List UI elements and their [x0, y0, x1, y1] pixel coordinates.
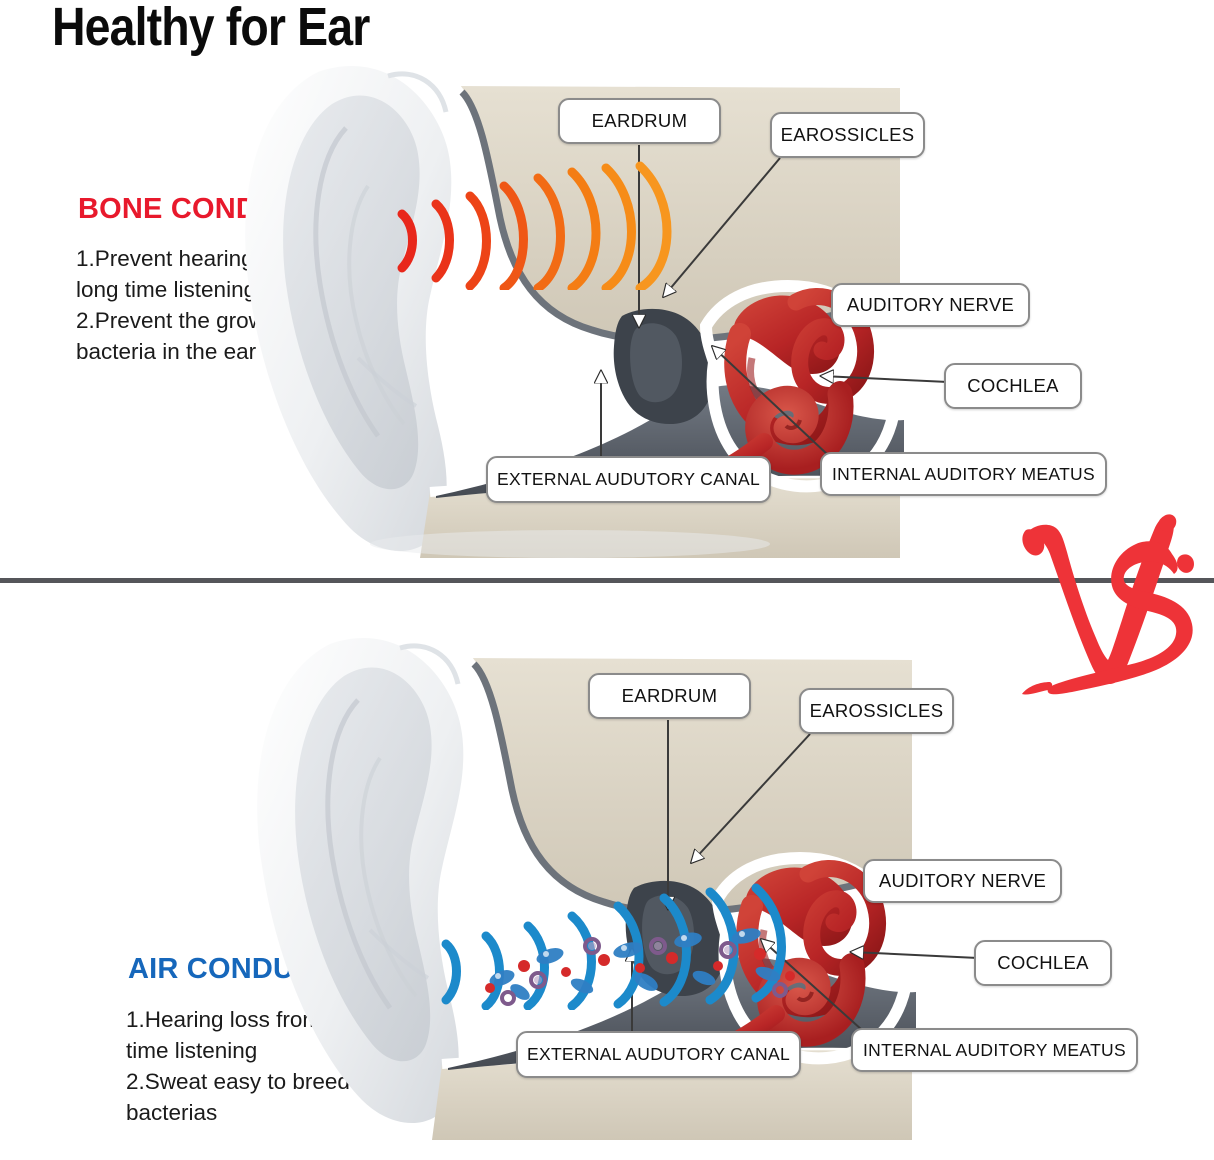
- label-eardrum-top[interactable]: EARDRUM: [558, 98, 721, 144]
- label-text: EXTERNAL AUDUTORY CANAL: [497, 469, 760, 490]
- label-text: EAROSSICLES: [810, 700, 944, 722]
- label-cochlea-top[interactable]: COCHLEA: [944, 363, 1082, 409]
- label-text: EXTERNAL AUDUTORY CANAL: [527, 1044, 790, 1065]
- label-auditory-nerve-top[interactable]: AUDITORY NERVE: [831, 283, 1030, 327]
- label-eardrum-bottom[interactable]: EARDRUM: [588, 673, 751, 719]
- label-text: COCHLEA: [997, 952, 1089, 974]
- label-text: COCHLEA: [967, 375, 1059, 397]
- vs-badge: [1004, 512, 1200, 698]
- label-text: EAROSSICLES: [781, 124, 915, 146]
- infographic-canvas: Healthy for Ear: [0, 0, 1214, 1160]
- label-external-auditory-canal-bottom[interactable]: EXTERNAL AUDUTORY CANAL: [516, 1031, 801, 1078]
- label-internal-auditory-meatus-top[interactable]: INTERNAL AUDITORY MEATUS: [820, 452, 1107, 496]
- label-auditory-nerve-bottom[interactable]: AUDITORY NERVE: [863, 859, 1062, 903]
- label-text: AUDITORY NERVE: [847, 294, 1014, 316]
- label-cochlea-bottom[interactable]: COCHLEA: [974, 940, 1112, 986]
- label-text: EARDRUM: [622, 685, 718, 707]
- label-text: AUDITORY NERVE: [879, 870, 1046, 892]
- label-earossicles-top[interactable]: EAROSSICLES: [770, 112, 925, 158]
- label-text: INTERNAL AUDITORY MEATUS: [863, 1040, 1126, 1061]
- label-external-auditory-canal-top[interactable]: EXTERNAL AUDUTORY CANAL: [486, 456, 771, 503]
- label-text: INTERNAL AUDITORY MEATUS: [832, 464, 1095, 485]
- label-internal-auditory-meatus-bottom[interactable]: INTERNAL AUDITORY MEATUS: [851, 1028, 1138, 1072]
- label-text: EARDRUM: [592, 110, 688, 132]
- label-earossicles-bottom[interactable]: EAROSSICLES: [799, 688, 954, 734]
- page-title: Healthy for Ear: [52, 0, 369, 56]
